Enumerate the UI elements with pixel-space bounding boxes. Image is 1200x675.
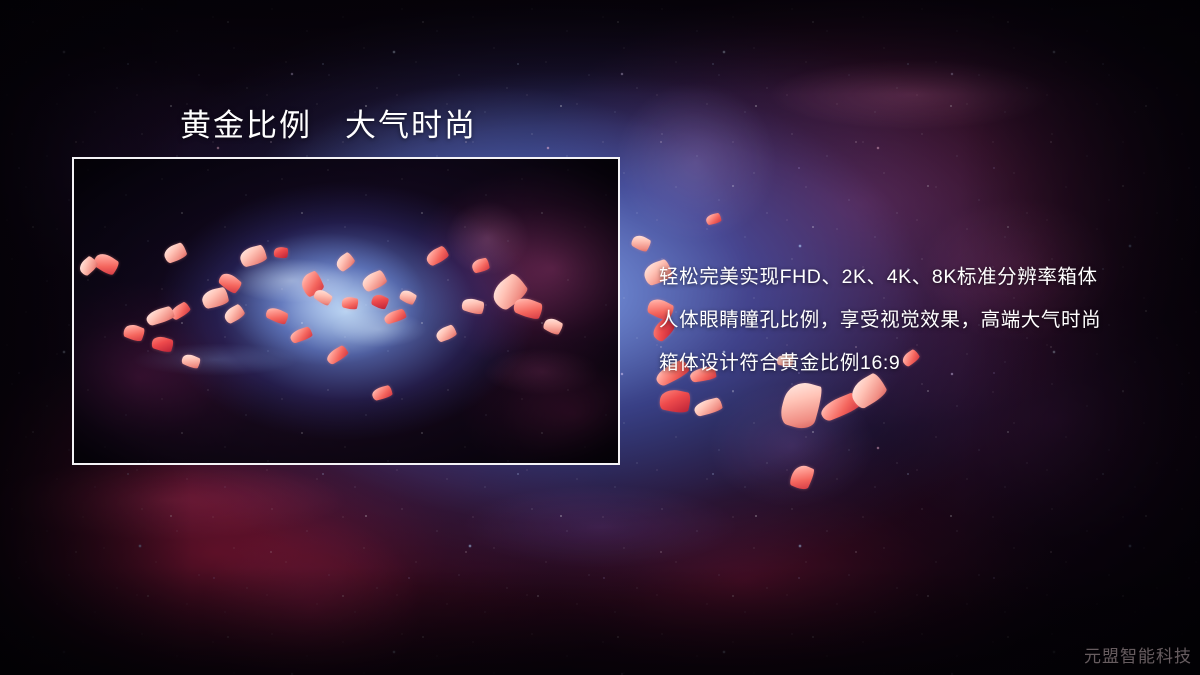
petal-icon xyxy=(471,257,490,273)
petal-icon xyxy=(434,324,457,343)
petal-icon xyxy=(222,303,246,325)
petal-icon xyxy=(777,378,824,432)
petal-icon xyxy=(200,286,229,309)
petal-icon xyxy=(542,315,565,336)
body-line-2: 人体眼睛瞳孔比例，享受视觉效果，高端大气时尚 xyxy=(659,299,1179,342)
petal-icon xyxy=(398,288,418,307)
petal-icon xyxy=(705,213,722,226)
petal-icon xyxy=(162,242,188,265)
petal-icon xyxy=(334,251,357,273)
petal-icon xyxy=(145,305,176,326)
presentation-slide: 黄金比例 大气时尚 轻松完美实现FHD、2K、4K、8K标准分辨率箱体 人体眼睛… xyxy=(0,0,1200,675)
petal-icon xyxy=(122,322,146,343)
petal-icon xyxy=(238,244,268,268)
petal-icon xyxy=(788,462,816,492)
petal-icon xyxy=(273,246,289,259)
petal-icon xyxy=(324,344,349,365)
watermark: 元盟智能科技 xyxy=(1084,642,1192,667)
petal-icon xyxy=(371,385,393,401)
petal-icon xyxy=(312,287,334,307)
petal-icon xyxy=(383,308,407,325)
petal-icon xyxy=(150,334,174,354)
page-title: 黄金比例 大气时尚 xyxy=(180,100,477,145)
body-line-1: 轻松完美实现FHD、2K、4K、8K标准分辨率箱体 xyxy=(659,256,1179,299)
petal-icon xyxy=(424,245,450,267)
body-line-3: 箱体设计符合黄金比例16:9 xyxy=(659,342,1179,385)
petal-icon xyxy=(180,352,201,370)
petal-icon xyxy=(630,232,653,253)
petal-icon xyxy=(658,387,692,415)
petal-icon xyxy=(360,269,388,293)
petal-icon xyxy=(264,305,289,326)
petal-icon xyxy=(341,295,359,311)
petal-icon xyxy=(289,326,314,344)
petal-icon xyxy=(370,292,390,311)
petal-icon xyxy=(460,296,485,316)
framed-image[interactable] xyxy=(72,157,620,465)
body-copy: 轻松完美实现FHD、2K、4K、8K标准分辨率箱体 人体眼睛瞳孔比例，享受视觉效… xyxy=(659,256,1179,385)
petal-icon xyxy=(693,397,724,417)
